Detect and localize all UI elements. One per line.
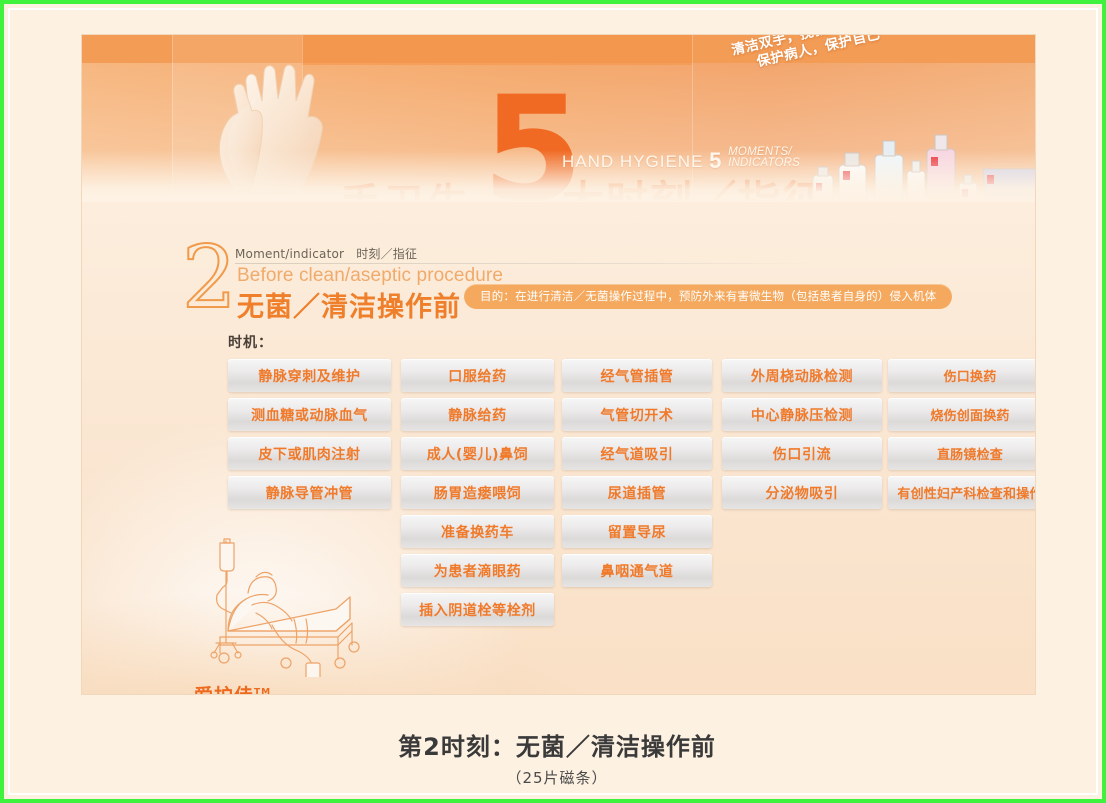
timing-tag[interactable]: 直肠镜检查 <box>888 437 1035 470</box>
timing-tag[interactable]: 经气道吸引 <box>562 437 712 470</box>
moment-number: 2 <box>182 235 237 321</box>
caption-subtitle: （25片磁条） <box>4 767 1106 788</box>
poster-page: 5 HAND HYGIENE 5 MOMENTS/ INDICATORS 手卫生… <box>0 0 1106 803</box>
timing-tag[interactable]: 烧伤创面换药 <box>888 398 1035 431</box>
moment-divider <box>235 263 811 264</box>
timing-tag[interactable]: 经气管插管 <box>562 359 712 392</box>
timing-tag[interactable]: 留置导尿 <box>562 515 712 548</box>
timing-tag[interactable]: 为患者滴眼药 <box>401 554 554 587</box>
timing-heading: 时机： <box>228 332 273 352</box>
timing-tag[interactable]: 有创性妇产科检查和操作 <box>888 476 1035 509</box>
tag-column-4: 外周桡动脉检测中心静脉压检测伤口引流分泌物吸引 <box>722 359 882 515</box>
timing-tag[interactable]: 准备换药车 <box>401 515 554 548</box>
moment-title-en: Before clean/aseptic procedure <box>237 265 503 287</box>
timing-tag[interactable]: 中心静脉压检测 <box>722 398 882 431</box>
timing-tag[interactable]: 分泌物吸引 <box>722 476 882 509</box>
purpose-badge: 目的：在进行清洁／无菌操作过程中，预防外来有害微生物（包括患者自身的）侵入机体 <box>464 284 952 309</box>
timing-tag[interactable]: 静脉穿刺及维护 <box>228 359 391 392</box>
banner-fade <box>82 150 1035 202</box>
timing-tag[interactable]: 伤口引流 <box>722 437 882 470</box>
moment-title-cn: 无菌／清洁操作前 <box>237 285 461 324</box>
header-banner: 5 HAND HYGIENE 5 MOMENTS/ INDICATORS 手卫生… <box>82 35 1035 202</box>
timing-tag[interactable]: 静脉给药 <box>401 398 554 431</box>
timing-tag[interactable]: 鼻咽通气道 <box>562 554 712 587</box>
patient-bed-iv-icon <box>194 527 374 677</box>
tag-column-1: 静脉穿刺及维护测血糖或动脉血气皮下或肌肉注射静脉导管冲管 <box>228 359 391 515</box>
banner-slogan: 清洁双手，挽救生命 保护病人，保护自己 <box>730 35 933 76</box>
timing-tag[interactable]: 测血糖或动脉血气 <box>228 398 391 431</box>
timing-tag[interactable]: 口服给药 <box>401 359 554 392</box>
brand-tm: TM <box>254 688 271 694</box>
timing-tag[interactable]: 插入阴道栓等栓剂 <box>401 593 554 626</box>
timing-tag[interactable]: 静脉导管冲管 <box>228 476 391 509</box>
timing-tag[interactable]: 伤口换药 <box>888 359 1035 392</box>
timing-tag[interactable]: 外周桡动脉检测 <box>722 359 882 392</box>
moment-label-cn: 时刻／指征 <box>356 247 417 261</box>
timing-tag[interactable]: 气管切开术 <box>562 398 712 431</box>
moment-indicator-label: Moment/indicator 时刻／指征 <box>235 245 417 262</box>
moment-label-en: Moment/indicator <box>235 247 344 261</box>
tag-column-5: 伤口换药烧伤创面换药直肠镜检查有创性妇产科检查和操作 <box>888 359 1035 515</box>
timing-tag[interactable]: 尿道插管 <box>562 476 712 509</box>
timing-tag[interactable]: 皮下或肌肉注射 <box>228 437 391 470</box>
poster-panel: 5 HAND HYGIENE 5 MOMENTS/ INDICATORS 手卫生… <box>82 35 1035 694</box>
timing-tag[interactable]: 成人(婴儿)鼻饲 <box>401 437 554 470</box>
timing-tag[interactable]: 肠胃造瘘喂饲 <box>401 476 554 509</box>
tag-column-2: 口服给药静脉给药成人(婴儿)鼻饲肠胃造瘘喂饲准备换药车为患者滴眼药插入阴道栓等栓… <box>401 359 554 632</box>
caption-title: 第2时刻：无菌／清洁操作前 <box>4 727 1106 762</box>
tag-column-3: 经气管插管气管切开术经气道吸引尿道插管留置导尿鼻咽通气道 <box>562 359 712 593</box>
brand-name: 爱护佳TM <box>194 681 271 694</box>
